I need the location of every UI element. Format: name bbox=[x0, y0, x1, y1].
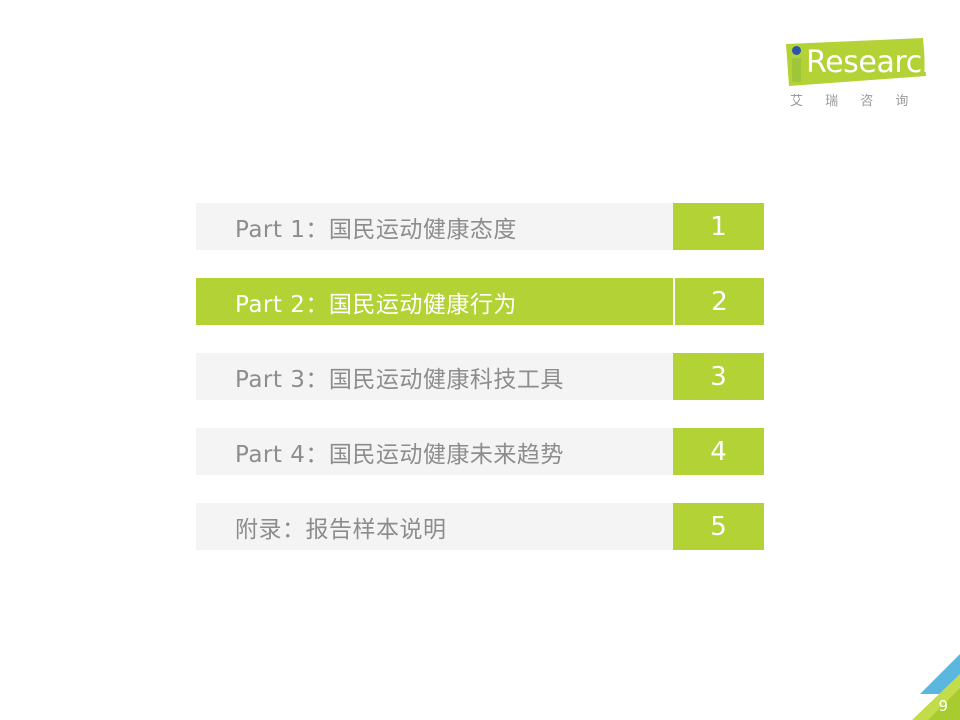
toc-label-text-5: 附录：报告样本说明 bbox=[235, 510, 447, 544]
toc-number-cell-2[interactable]: 2 bbox=[673, 278, 764, 325]
toc-row-5[interactable]: 附录：报告样本说明 5 bbox=[196, 503, 764, 550]
corner-triangles-icon bbox=[898, 654, 960, 720]
logo-subtitle: 艾 瑞 咨 询 bbox=[790, 90, 926, 109]
toc-number-text-4: 4 bbox=[710, 439, 727, 465]
toc-number-cell-4[interactable]: 4 bbox=[673, 428, 764, 475]
toc-row-2[interactable]: Part 2：国民运动健康行为 2 bbox=[196, 278, 764, 325]
toc-number-cell-3[interactable]: 3 bbox=[673, 353, 764, 400]
toc-label-cell-1[interactable]: Part 1：国民运动健康态度 bbox=[196, 203, 673, 250]
logo-wordmark: Research bbox=[806, 46, 940, 80]
toc-number-text-5: 5 bbox=[710, 514, 727, 540]
toc-number-cell-5[interactable]: 5 bbox=[673, 503, 764, 550]
toc-label-text-1: Part 1：国民运动健康态度 bbox=[235, 210, 517, 244]
toc-label-text-2: Part 2：国民运动健康行为 bbox=[235, 285, 517, 319]
toc-label-cell-2[interactable]: Part 2：国民运动健康行为 bbox=[196, 278, 673, 325]
logo-i-dot-icon bbox=[792, 46, 801, 55]
toc-label-cell-4[interactable]: Part 4：国民运动健康未来趋势 bbox=[196, 428, 673, 475]
toc-number-text-1: 1 bbox=[710, 214, 727, 240]
toc-label-cell-3[interactable]: Part 3：国民运动健康科技工具 bbox=[196, 353, 673, 400]
logo-i-stem-icon bbox=[792, 58, 801, 82]
toc-row-1[interactable]: Part 1：国民运动健康态度 1 bbox=[196, 203, 764, 250]
iresearch-logo: Research 艾 瑞 咨 询 bbox=[786, 38, 926, 116]
toc-number-text-2: 2 bbox=[711, 289, 728, 315]
logo-mark: Research bbox=[786, 38, 926, 86]
toc-label-cell-5[interactable]: 附录：报告样本说明 bbox=[196, 503, 673, 550]
toc-label-text-3: Part 3：国民运动健康科技工具 bbox=[235, 360, 564, 394]
toc-number-cell-1[interactable]: 1 bbox=[673, 203, 764, 250]
toc-row-4[interactable]: Part 4：国民运动健康未来趋势 4 bbox=[196, 428, 764, 475]
toc-number-text-3: 3 bbox=[710, 364, 727, 390]
table-of-contents: Part 1：国民运动健康态度 1 Part 2：国民运动健康行为 2 Part… bbox=[196, 203, 764, 550]
toc-row-3[interactable]: Part 3：国民运动健康科技工具 3 bbox=[196, 353, 764, 400]
page-number: 9 bbox=[938, 699, 948, 714]
toc-label-text-4: Part 4：国民运动健康未来趋势 bbox=[235, 435, 564, 469]
corner-decoration-icon bbox=[898, 654, 960, 720]
slide-canvas: Research 艾 瑞 咨 询 Part 1：国民运动健康态度 1 Part … bbox=[0, 0, 960, 720]
